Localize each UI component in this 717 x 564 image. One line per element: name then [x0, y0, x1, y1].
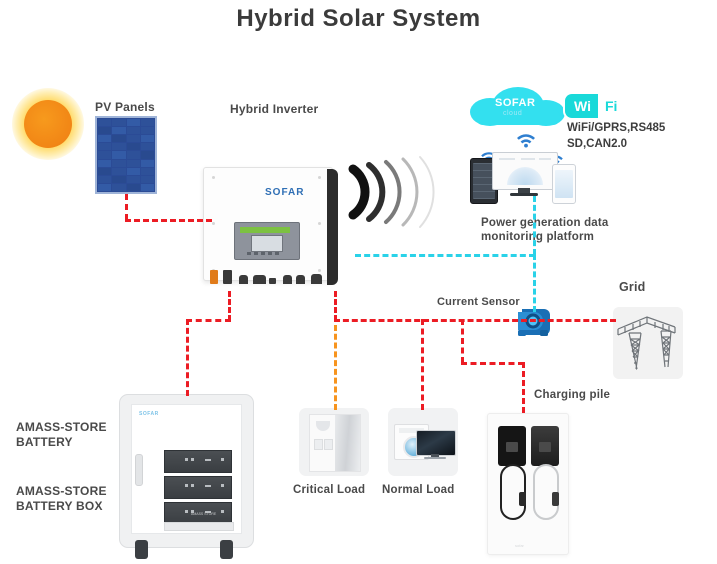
- wire-inverter-ac-down: [334, 291, 337, 321]
- inverter-screw: [318, 269, 321, 272]
- grid-tower-icon: [613, 307, 683, 379]
- charging-pile-label: Charging pile: [534, 388, 610, 402]
- inverter-screw: [212, 176, 215, 179]
- fridge-door: [335, 415, 360, 471]
- inverter-brand-label: SOFAR: [265, 187, 304, 198]
- wire-ac-bus: [334, 319, 616, 322]
- inverter-terminal: [239, 275, 248, 284]
- comm-line-horizontal: [355, 254, 535, 257]
- inverter-screw: [318, 222, 321, 225]
- tv-screen: [416, 430, 456, 456]
- solar-panel-icon: [95, 116, 157, 194]
- battery-modules: [164, 450, 232, 528]
- battery-module: [164, 476, 232, 499]
- battery-box-label-line1: AMASS-STORE: [16, 484, 107, 499]
- comm-line-to-sensor: [533, 254, 536, 312]
- display-buttons: [247, 252, 279, 255]
- inverter-heatsink: [327, 169, 338, 285]
- battery-label-line1: AMASS-STORE: [16, 420, 107, 435]
- inverter-terminal: [296, 275, 305, 284]
- cabinet-wheel: [220, 540, 233, 559]
- inverter-terminal: [311, 274, 322, 284]
- sun-icon: [12, 88, 84, 160]
- charger-connector: [519, 492, 526, 506]
- inverter-screw: [212, 222, 215, 225]
- normal-load-label: Normal Load: [382, 483, 455, 497]
- wire-inverter-battery-down: [228, 291, 231, 321]
- fridge-fan: [316, 421, 330, 431]
- charger-connector: [552, 492, 559, 506]
- inverter-terminal: [269, 278, 276, 284]
- display-status-bar: [240, 227, 290, 233]
- wifi-spec-line1: WiFi/GPRS,RS485: [567, 121, 665, 137]
- battery-cabinet-icon: SOFAR AMASS STORE: [119, 394, 252, 564]
- inverter-terminal: [253, 275, 266, 284]
- wire-critical-load: [334, 325, 337, 410]
- cabinet-brand-label: SOFAR: [139, 411, 159, 417]
- monitor-text-line: [539, 158, 551, 160]
- display-lcd: [251, 235, 283, 252]
- cabinet-model-tag: AMASS STORE: [191, 512, 216, 516]
- wifi-badge-wi: Wi: [565, 94, 598, 118]
- inverter-terminal: [283, 275, 292, 284]
- monitoring-platform-line1: Power generation data: [481, 216, 609, 230]
- fridge-control: [324, 439, 333, 450]
- charger-unit: [498, 426, 526, 466]
- battery-base-module: [164, 522, 234, 531]
- phone-screen: [555, 170, 573, 198]
- monitor-icon: [492, 152, 556, 196]
- inverter-terminal-dc: [210, 270, 218, 284]
- wire-pv-down: [125, 194, 128, 220]
- inverter-icon: SOFAR: [203, 167, 343, 292]
- wire-pile-down: [461, 319, 464, 363]
- wire-inverter-battery-left: [186, 319, 231, 322]
- wifi-badge: Wi Fi: [565, 94, 626, 118]
- wire-pv-to-inverter: [125, 219, 212, 222]
- inverter-terminal: [223, 270, 232, 284]
- grid-label: Grid: [619, 280, 646, 296]
- cloud-brand-label: SOFAR: [495, 97, 535, 109]
- page-title: Hybrid Solar System: [0, 4, 717, 34]
- battery-label: AMASS-STORE BATTERY: [16, 420, 107, 450]
- phone-icon: [552, 164, 576, 204]
- wire-pile-drop: [522, 362, 525, 413]
- monitor-screen: [492, 152, 558, 190]
- critical-load-label: Critical Load: [293, 483, 365, 497]
- wire-battery-drop: [186, 319, 189, 396]
- wire-pile-right: [461, 362, 524, 365]
- monitoring-devices: [470, 146, 582, 204]
- normal-load-box: [388, 408, 458, 476]
- comm-line-to-platform: [533, 196, 536, 255]
- charger-screen: [506, 442, 518, 452]
- signal-waves-icon: [345, 155, 455, 229]
- critical-load-box: [299, 408, 369, 476]
- monitor-text-line: [521, 158, 535, 160]
- television-icon: [416, 430, 454, 460]
- wifi-badge-fi: Fi: [598, 94, 626, 118]
- battery-module: [164, 450, 232, 473]
- wire-normal-load: [421, 319, 424, 410]
- tv-base: [424, 457, 446, 459]
- monitor-text-line: [499, 158, 515, 160]
- pv-panels-label: PV Panels: [95, 100, 155, 115]
- cabinet-wheel: [135, 540, 148, 559]
- battery-box-label: AMASS-STORE BATTERY BOX: [16, 484, 107, 514]
- monitor-chart: [507, 167, 543, 185]
- hybrid-inverter-label: Hybrid Inverter: [230, 102, 318, 117]
- battery-label-line2: BATTERY: [16, 435, 107, 450]
- solar-cell-grid: [98, 119, 154, 191]
- wifi-spec-line2: SD,CAN2.0: [567, 137, 665, 153]
- inverter-display: [234, 222, 300, 260]
- wifi-spec-text: WiFi/GPRS,RS485 SD,CAN2.0: [567, 121, 665, 152]
- refrigerator-icon: [309, 414, 361, 472]
- battery-box-label-line2: BATTERY BOX: [16, 499, 107, 514]
- ev-charger-icon: sofar: [487, 413, 569, 555]
- charger-screen: [539, 442, 551, 452]
- charger-unit: [531, 426, 559, 466]
- cloud-icon: [468, 86, 568, 132]
- pile-brand-label: sofar: [515, 543, 524, 548]
- cloud-sub-label: cloud: [503, 110, 522, 117]
- monitoring-platform-label: Power generation data monitoring platfor…: [481, 216, 609, 245]
- sun-disc: [24, 100, 72, 148]
- current-sensor-label: Current Sensor: [437, 296, 520, 310]
- inverter-screw: [318, 176, 321, 179]
- monitoring-platform-line2: monitoring platform: [481, 230, 609, 244]
- fridge-control: [314, 439, 323, 450]
- cabinet-handle: [135, 454, 143, 486]
